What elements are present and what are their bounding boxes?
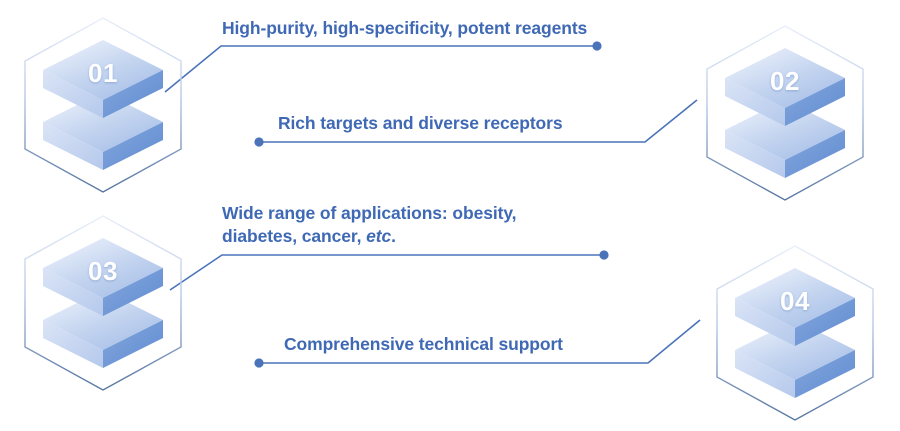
connector-group-3: [170, 250, 609, 290]
upper-slab-icon: [43, 40, 163, 118]
upper-slab-icon: [735, 268, 855, 346]
stacked-layers-icon-node-01[interactable]: 01: [8, 10, 198, 200]
infographic-canvas: 01: [0, 0, 900, 431]
connector-group-1: [165, 41, 602, 92]
feature-label-3-line-2-pre: diabetes, cancer,: [222, 226, 366, 246]
feature-label-3-emphasis: etc: [366, 226, 391, 246]
upper-slab-icon: [725, 48, 845, 126]
connector-dot-1: [592, 41, 601, 50]
connector-dot-2: [254, 137, 263, 146]
upper-slab-icon: [43, 238, 163, 316]
feature-label-3: Wide range of applications: obesity, dia…: [222, 202, 552, 248]
connector-line-1: [165, 46, 595, 92]
connector-dot-4: [254, 358, 263, 367]
feature-label-1: High-purity, high-specificity, potent re…: [222, 17, 587, 40]
feature-label-3-line-2-post: .: [391, 226, 396, 246]
stacked-layers-icon-node-02[interactable]: 02: [690, 18, 880, 208]
feature-label-2: Rich targets and diverse receptors: [278, 112, 563, 135]
stacked-layers-icon-node-04[interactable]: 04: [700, 238, 890, 428]
connector-line-3: [170, 255, 602, 290]
feature-label-3-line-1: Wide range of applications: obesity,: [222, 203, 516, 223]
feature-label-4: Comprehensive technical support: [284, 333, 563, 356]
connector-dot-3: [599, 250, 608, 259]
stacked-layers-icon-node-03[interactable]: 03: [8, 208, 198, 398]
